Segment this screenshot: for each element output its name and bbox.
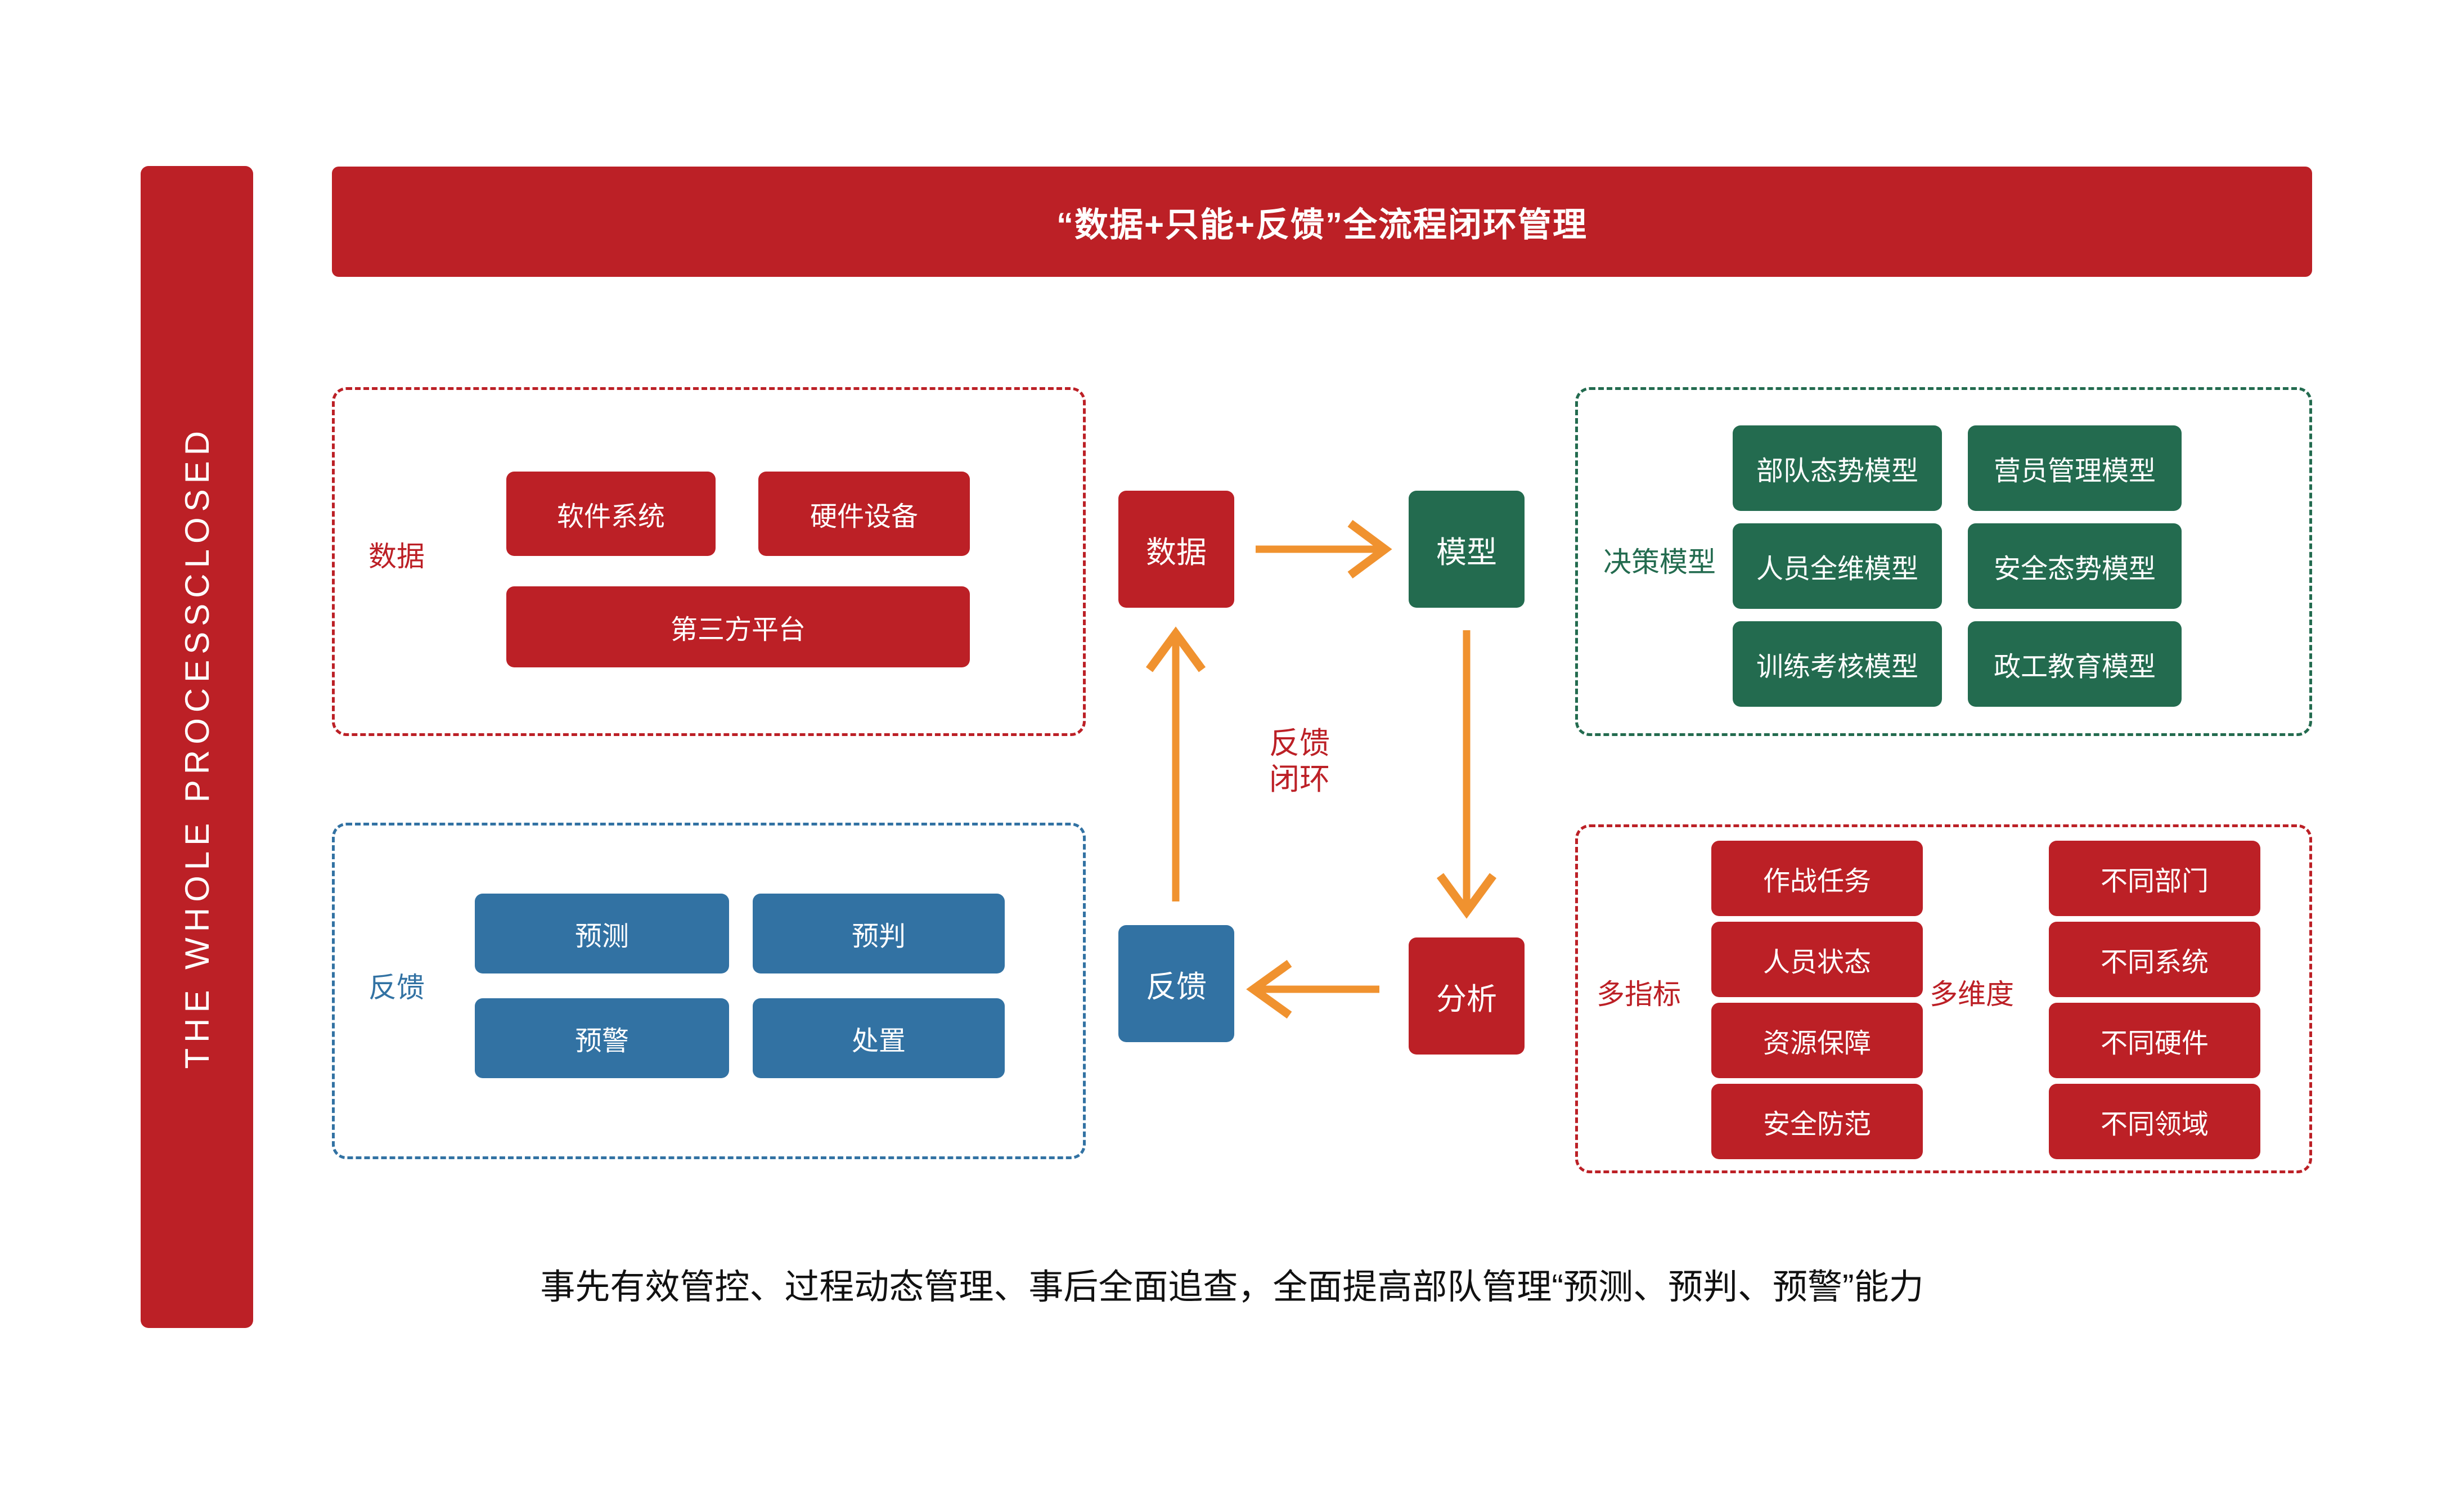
cycle-node-model[interactable]: 模型: [1409, 491, 1525, 608]
chip-prejudgment[interactable]: 预判: [753, 894, 1005, 973]
chip-political-education-model[interactable]: 政工教育模型: [1968, 621, 2182, 707]
sidebar-label: THE WHOLE PROCESSCLOSED: [178, 425, 217, 1069]
chip-different-hardware[interactable]: 不同硬件: [2049, 1003, 2260, 1078]
chip-early-warning[interactable]: 预警: [475, 998, 729, 1078]
page-title: “数据+只能+反馈”全流程闭环管理: [1056, 198, 1588, 246]
chip-different-department[interactable]: 不同部门: [2049, 841, 2260, 916]
chip-hardware-device[interactable]: 硬件设备: [758, 472, 970, 556]
chip-safety-precaution[interactable]: 安全防范: [1711, 1084, 1923, 1159]
chip-different-system[interactable]: 不同系统: [2049, 922, 2260, 997]
chip-software-system[interactable]: 软件系统: [506, 472, 716, 556]
chip-combat-mission[interactable]: 作战任务: [1711, 841, 1923, 916]
chip-security-situation-model[interactable]: 安全态势模型: [1968, 523, 2182, 609]
panel-data-label: 数据: [368, 541, 425, 572]
panel-metrics-label-dimensions: 多维度: [1930, 979, 2014, 1010]
panel-data: [332, 387, 1086, 736]
arrow-model-to-analysis: [1440, 630, 1493, 912]
chip-forecast[interactable]: 预测: [475, 894, 729, 973]
sidebar-banner: THE WHOLE PROCESSCLOSED: [141, 166, 253, 1328]
cycle-node-analysis[interactable]: 分析: [1409, 937, 1525, 1055]
arrow-analysis-to-feedback: [1253, 963, 1379, 1015]
chip-training-assessment-model[interactable]: 训练考核模型: [1733, 621, 1942, 707]
cycle-node-feedback[interactable]: 反馈: [1118, 925, 1234, 1042]
panel-metrics-label-indicators: 多指标: [1597, 979, 1681, 1010]
chip-disposal[interactable]: 处置: [753, 998, 1005, 1078]
panel-feedback: [332, 823, 1086, 1159]
diagram-canvas: THE WHOLE PROCESSCLOSED “数据+只能+反馈”全流程闭环管…: [0, 0, 2464, 1494]
chip-personnel-full-dimension-model[interactable]: 人员全维模型: [1733, 523, 1942, 609]
chip-personnel-status[interactable]: 人员状态: [1711, 922, 1923, 997]
panel-feedback-label: 反馈: [368, 972, 425, 1003]
arrow-data-to-model: [1256, 523, 1385, 575]
cycle-node-data[interactable]: 数据: [1118, 491, 1234, 608]
cycle-center-label-line1: 反馈: [1269, 726, 1330, 762]
header-banner: “数据+只能+反馈”全流程闭环管理: [332, 167, 2312, 277]
cycle-center-label: 反馈 闭环: [1269, 726, 1330, 797]
cycle-center-label-line2: 闭环: [1269, 762, 1330, 798]
chip-troop-situation-model[interactable]: 部队态势模型: [1733, 425, 1942, 511]
chip-third-party-platform[interactable]: 第三方平台: [506, 586, 970, 667]
chip-different-domain[interactable]: 不同领域: [2049, 1084, 2260, 1159]
arrow-feedback-to-data: [1149, 634, 1202, 901]
footer-caption: 事先有效管控、过程动态管理、事后全面追查，全面提高部队管理“预测、预判、预警”能…: [0, 1258, 2464, 1309]
panel-decision-model-label: 决策模型: [1603, 547, 1716, 578]
chip-camper-management-model[interactable]: 营员管理模型: [1968, 425, 2182, 511]
chip-resource-support[interactable]: 资源保障: [1711, 1003, 1923, 1078]
